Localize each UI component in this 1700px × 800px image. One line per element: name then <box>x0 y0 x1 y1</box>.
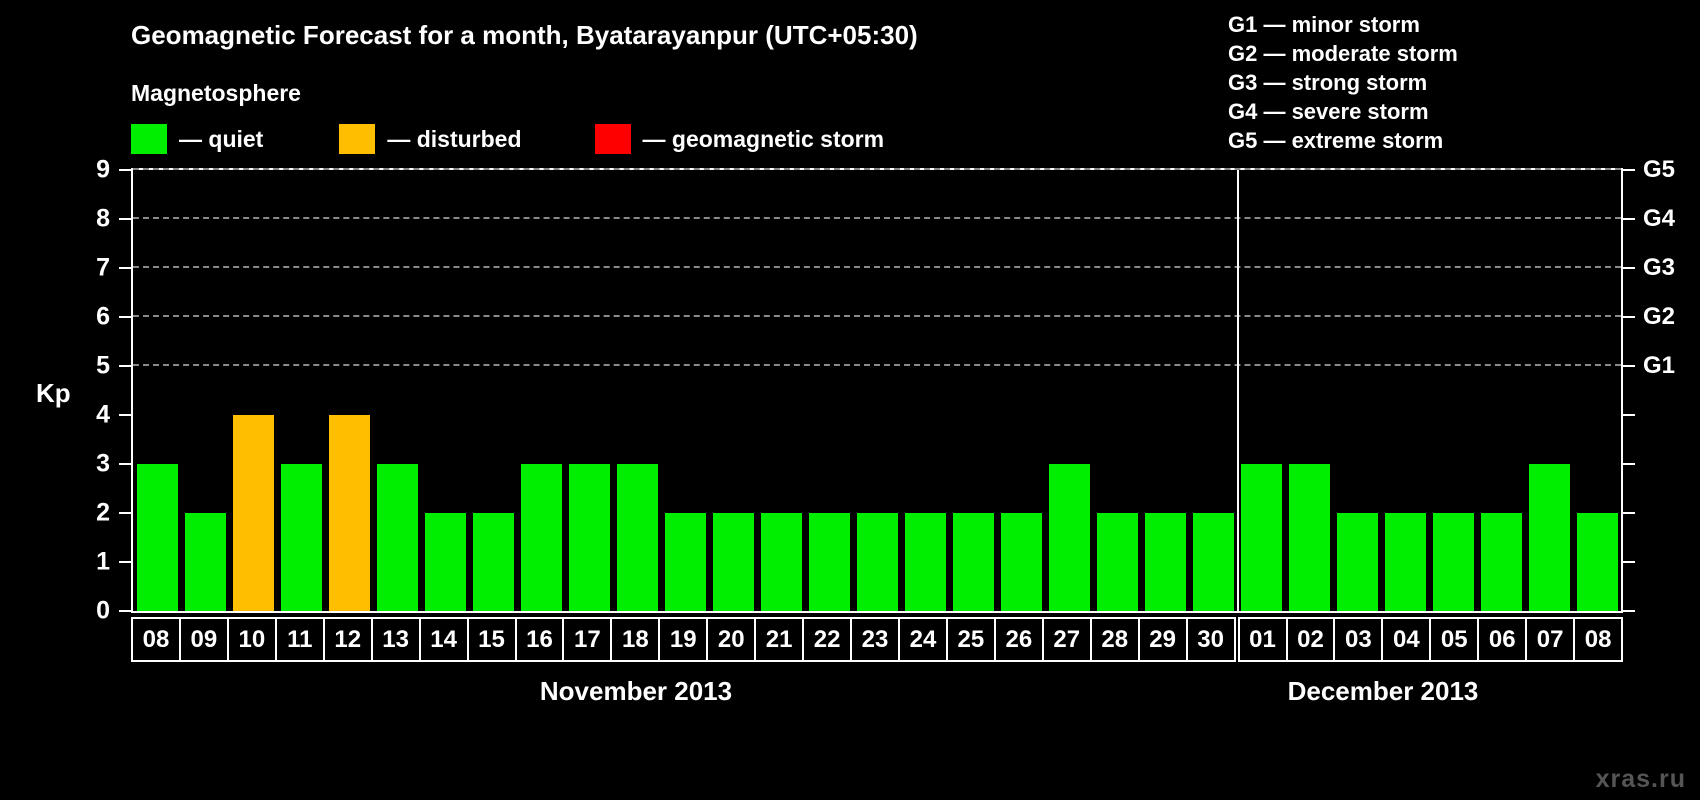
bar <box>521 464 562 611</box>
bar-series <box>133 170 1621 611</box>
bar-cell <box>1285 170 1333 611</box>
g-axis-tick-mark <box>1623 463 1635 465</box>
x-axis-day-cell[interactable]: 17 <box>562 617 612 662</box>
bar-cell <box>1477 170 1525 611</box>
bar <box>329 415 370 611</box>
y-axis-tick-label: 5 <box>96 352 110 381</box>
y-axis-tick-label: 0 <box>96 597 110 626</box>
bar-cell <box>1237 170 1285 611</box>
bar-cell <box>1333 170 1381 611</box>
x-axis-day-cell[interactable]: 07 <box>1525 617 1575 662</box>
bar <box>857 513 898 611</box>
month-caption-november: November 2013 <box>131 676 1141 707</box>
g-axis-tick-label: G1 <box>1643 352 1675 380</box>
bar <box>1097 513 1138 611</box>
y-axis-tick-mark <box>119 169 131 171</box>
bar <box>1049 464 1090 611</box>
x-axis-day-label: 01 <box>1249 626 1276 654</box>
g-scale-row: G4 — severe storm <box>1228 97 1458 126</box>
x-axis-day-cell[interactable]: 16 <box>515 617 565 662</box>
g-axis-tick-mark <box>1623 218 1635 220</box>
bar-cell <box>613 170 661 611</box>
x-axis-day-label: 14 <box>430 626 457 654</box>
x-axis-day-label: 06 <box>1489 626 1516 654</box>
site-watermark: xras.ru <box>1596 765 1686 794</box>
disturbed-swatch <box>339 124 375 154</box>
x-axis-day-cell[interactable]: 01 <box>1238 617 1288 662</box>
x-axis-day-cell[interactable]: 21 <box>754 617 804 662</box>
g-axis-tick-label: G2 <box>1643 303 1675 331</box>
x-axis-day-cell[interactable]: 08 <box>1573 617 1623 662</box>
bar-cell <box>661 170 709 611</box>
g-scale-row: G3 — strong storm <box>1228 68 1458 97</box>
g-axis-tick-mark <box>1623 512 1635 514</box>
chart-plot-area <box>131 168 1623 613</box>
x-axis-day-label: 08 <box>1585 626 1612 654</box>
bar <box>905 513 946 611</box>
bar-cell <box>421 170 469 611</box>
bar <box>473 513 514 611</box>
x-axis-day-label: 12 <box>334 626 361 654</box>
y-axis-tick-label: 8 <box>96 205 110 234</box>
x-axis-day-cell[interactable]: 15 <box>467 617 517 662</box>
g-axis-tick-mark <box>1623 561 1635 563</box>
legend-item-storm: — geomagnetic storm <box>595 124 885 154</box>
x-axis-day-label: 20 <box>718 626 745 654</box>
g-axis-tick-mark <box>1623 169 1635 171</box>
x-axis-day-label: 10 <box>238 626 265 654</box>
bar <box>1481 513 1522 611</box>
y-axis-tick-mark <box>119 267 131 269</box>
bar <box>1145 513 1186 611</box>
bar-cell <box>1045 170 1093 611</box>
x-axis-day-cell[interactable]: 19 <box>658 617 708 662</box>
bar <box>137 464 178 611</box>
x-axis-day-label: 29 <box>1149 626 1176 654</box>
bar <box>377 464 418 611</box>
bar-cell <box>901 170 949 611</box>
bar <box>569 464 610 611</box>
magnetosphere-legend: — quiet — disturbed — geomagnetic storm <box>131 124 884 154</box>
x-axis-day-cell[interactable]: 12 <box>323 617 373 662</box>
x-axis-day-cell[interactable]: 06 <box>1477 617 1527 662</box>
g-axis-tick-label: G5 <box>1643 156 1675 184</box>
x-axis-day-label: 08 <box>143 626 170 654</box>
bar <box>1289 464 1330 611</box>
y-axis-tick-mark <box>119 610 131 612</box>
bar-cell <box>181 170 229 611</box>
x-axis-day-cell[interactable]: 23 <box>850 617 900 662</box>
y-axis-tick-mark <box>119 414 131 416</box>
x-axis-day-cell[interactable]: 29 <box>1138 617 1188 662</box>
bar-cell <box>709 170 757 611</box>
page-title: Geomagnetic Forecast for a month, Byatar… <box>131 20 918 51</box>
bar-cell <box>1093 170 1141 611</box>
x-axis-day-label: 19 <box>670 626 697 654</box>
x-axis-day-cell[interactable]: 13 <box>371 617 421 662</box>
bar <box>1529 464 1570 611</box>
g-scale-row: G1 — minor storm <box>1228 10 1458 39</box>
bar <box>1577 513 1618 611</box>
x-axis-day-cell[interactable]: 20 <box>706 617 756 662</box>
bar-cell <box>757 170 805 611</box>
bar <box>953 513 994 611</box>
bar-cell <box>325 170 373 611</box>
legend-label-disturbed: — disturbed <box>387 126 521 153</box>
x-axis-day-label: 25 <box>958 626 985 654</box>
x-axis-day-cell[interactable]: 02 <box>1286 617 1336 662</box>
y-axis-tick-label: 1 <box>96 548 110 577</box>
g-scale-axis: G1G2G3G4G5 <box>1623 168 1700 613</box>
x-axis-day-label: 07 <box>1537 626 1564 654</box>
plot-inner <box>133 170 1621 611</box>
bar-cell <box>1189 170 1237 611</box>
x-axis-day-label: 18 <box>622 626 649 654</box>
legend-item-disturbed: — disturbed <box>339 124 521 154</box>
g-axis-tick-mark <box>1623 365 1635 367</box>
bar <box>713 513 754 611</box>
x-axis-day-cell[interactable]: 10 <box>227 617 277 662</box>
y-axis-tick-mark <box>119 218 131 220</box>
y-axis-tick-label: 6 <box>96 303 110 332</box>
storm-swatch <box>595 124 631 154</box>
x-axis-day-label: 21 <box>766 626 793 654</box>
bar <box>1241 464 1282 611</box>
x-axis-day-cell[interactable]: 14 <box>419 617 469 662</box>
x-axis-day-label: 11 <box>287 626 312 654</box>
x-axis-day-label: 28 <box>1101 626 1128 654</box>
x-axis-day-label: 30 <box>1197 626 1224 654</box>
bar-cell <box>949 170 997 611</box>
legend-label-quiet: — quiet <box>179 126 263 153</box>
x-axis-day-label: 09 <box>191 626 218 654</box>
bar-cell <box>1381 170 1429 611</box>
x-axis-day-label: 13 <box>382 626 409 654</box>
bar <box>665 513 706 611</box>
x-axis-day-label: 26 <box>1005 626 1032 654</box>
bar-cell <box>1525 170 1573 611</box>
bar <box>425 513 466 611</box>
y-axis-tick-label: 3 <box>96 450 110 479</box>
x-axis-day-cell[interactable]: 27 <box>1042 617 1092 662</box>
y-axis-tick-mark <box>119 316 131 318</box>
legend-item-quiet: — quiet <box>131 124 263 154</box>
x-axis-day-label: 03 <box>1345 626 1372 654</box>
x-axis-day-label: 16 <box>526 626 553 654</box>
quiet-swatch <box>131 124 167 154</box>
y-axis-tick-label: 4 <box>96 401 110 430</box>
bar <box>1385 513 1426 611</box>
x-axis-day-labels: 0809101112131415161718192021222324252627… <box>131 617 1623 662</box>
g-scale-row: G5 — extreme storm <box>1228 126 1458 155</box>
x-axis-day-label: 02 <box>1297 626 1324 654</box>
x-axis-day-label: 27 <box>1053 626 1080 654</box>
bar <box>1433 513 1474 611</box>
y-axis-tick-label: 9 <box>96 156 110 185</box>
bar <box>1337 513 1378 611</box>
bar-cell <box>805 170 853 611</box>
y-axis-tick-mark <box>119 365 131 367</box>
x-axis-day-cell[interactable]: 11 <box>275 617 325 662</box>
x-axis-day-cell[interactable]: 26 <box>994 617 1044 662</box>
y-axis-tick-label: 2 <box>96 499 110 528</box>
g-axis-tick-label: G4 <box>1643 205 1675 233</box>
bar-cell <box>1429 170 1477 611</box>
x-axis-day-label: 23 <box>862 626 889 654</box>
bar-cell <box>469 170 517 611</box>
y-axis-tick-mark <box>119 512 131 514</box>
bar <box>1193 513 1234 611</box>
g-axis-tick-mark <box>1623 267 1635 269</box>
bar-cell <box>133 170 181 611</box>
y-axis-tick-label: 7 <box>96 254 110 283</box>
bar <box>617 464 658 611</box>
g-axis-tick-mark <box>1623 316 1635 318</box>
bar-cell <box>1141 170 1189 611</box>
x-axis-day-cell[interactable]: 05 <box>1429 617 1479 662</box>
month-caption-december: December 2013 <box>1143 676 1623 707</box>
x-axis-day-cell[interactable]: 08 <box>131 617 181 662</box>
g-scale-row: G2 — moderate storm <box>1228 39 1458 68</box>
x-axis-day-label: 22 <box>814 626 841 654</box>
bar-cell <box>373 170 421 611</box>
bar <box>185 513 226 611</box>
g-axis-tick-mark <box>1623 610 1635 612</box>
bar <box>233 415 274 611</box>
y-axis-tick-mark <box>119 561 131 563</box>
x-axis-day-label: 15 <box>478 626 505 654</box>
bar-cell <box>229 170 277 611</box>
x-axis-day-label: 04 <box>1393 626 1420 654</box>
g-axis-tick-mark <box>1623 414 1635 416</box>
bar <box>1001 513 1042 611</box>
bar <box>761 513 802 611</box>
x-axis-day-cell[interactable]: 09 <box>179 617 229 662</box>
x-axis-day-cell[interactable]: 04 <box>1381 617 1431 662</box>
magnetosphere-label: Magnetosphere <box>131 80 301 107</box>
bar-cell <box>565 170 613 611</box>
bar-cell <box>277 170 325 611</box>
bar <box>809 513 850 611</box>
bar-cell <box>997 170 1045 611</box>
g-scale-legend: G1 — minor storm G2 — moderate storm G3 … <box>1228 10 1458 155</box>
bar <box>281 464 322 611</box>
g-axis-tick-label: G3 <box>1643 254 1675 282</box>
y-axis-tick-mark <box>119 463 131 465</box>
y-axis: 0123456789 <box>60 168 131 613</box>
x-axis-day-cell[interactable]: 25 <box>946 617 996 662</box>
x-axis-day-label: 24 <box>910 626 937 654</box>
month-divider <box>1237 170 1239 611</box>
x-axis-day-cell[interactable]: 24 <box>898 617 948 662</box>
x-axis-day-cell[interactable]: 03 <box>1333 617 1383 662</box>
bar-cell <box>853 170 901 611</box>
bar-cell <box>1573 170 1621 611</box>
legend-label-storm: — geomagnetic storm <box>643 126 885 153</box>
x-axis-day-cell[interactable]: 18 <box>610 617 660 662</box>
x-axis-day-cell[interactable]: 30 <box>1186 617 1236 662</box>
x-axis-day-cell[interactable]: 28 <box>1090 617 1140 662</box>
x-axis-day-label: 17 <box>574 626 601 654</box>
bar-cell <box>517 170 565 611</box>
x-axis-day-cell[interactable]: 22 <box>802 617 852 662</box>
x-axis-day-label: 05 <box>1441 626 1468 654</box>
